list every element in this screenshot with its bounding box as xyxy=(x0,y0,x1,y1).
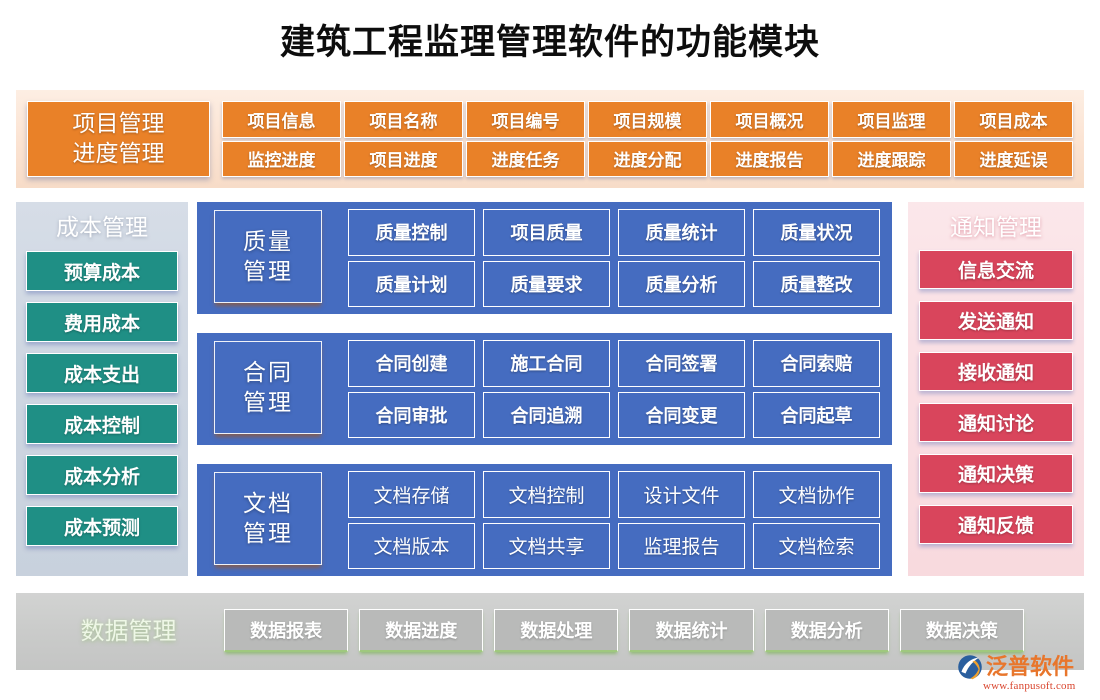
project-cell[interactable]: 项目规模 xyxy=(588,101,707,138)
contract-management-panel: 合同 管理 合同创建 施工合同 合同签署 合同索赔 合同审批 合同追溯 合同变更… xyxy=(197,333,892,445)
page-title: 建筑工程监理管理软件的功能模块 xyxy=(0,14,1100,65)
document-grid: 文档存储 文档控制 设计文件 文档协作 文档版本 文档共享 监理报告 文档检索 xyxy=(348,471,880,569)
quality-cell[interactable]: 项目质量 xyxy=(483,209,610,256)
quality-cell[interactable]: 质量整改 xyxy=(753,261,880,308)
cost-item-control[interactable]: 成本控制 xyxy=(26,404,178,444)
quality-management-label: 质量 管理 xyxy=(214,210,322,303)
notify-item-send[interactable]: 发送通知 xyxy=(919,301,1073,340)
schedule-cell[interactable]: 监控进度 xyxy=(222,141,341,178)
contract-grid: 合同创建 施工合同 合同签署 合同索赔 合同审批 合同追溯 合同变更 合同起草 xyxy=(348,340,880,438)
quality-cell[interactable]: 质量统计 xyxy=(618,209,745,256)
document-management-panel: 文档 管理 文档存储 文档控制 设计文件 文档协作 文档版本 文档共享 监理报告… xyxy=(197,464,892,576)
notify-item-decision[interactable]: 通知决策 xyxy=(919,454,1073,493)
label-line: 管理 xyxy=(243,388,293,417)
project-schedule-label: 项目管理 进度管理 xyxy=(27,101,210,177)
project-cell[interactable]: 项目监理 xyxy=(832,101,951,138)
document-cell[interactable]: 文档版本 xyxy=(348,523,475,570)
data-item-progress[interactable]: 数据进度 xyxy=(359,609,483,652)
notify-item-receive[interactable]: 接收通知 xyxy=(919,352,1073,391)
quality-cell[interactable]: 质量控制 xyxy=(348,209,475,256)
data-management-section: 数据管理 数据报表 数据进度 数据处理 数据统计 数据分析 数据决策 xyxy=(16,593,1084,670)
quality-cell[interactable]: 质量要求 xyxy=(483,261,610,308)
document-cell[interactable]: 文档协作 xyxy=(753,471,880,518)
contract-cell[interactable]: 合同起草 xyxy=(753,392,880,439)
data-item-analysis[interactable]: 数据分析 xyxy=(765,609,889,652)
label-line: 管理 xyxy=(243,519,293,548)
document-cell[interactable]: 文档控制 xyxy=(483,471,610,518)
data-management-grid: 数据报表 数据进度 数据处理 数据统计 数据分析 数据决策 xyxy=(224,609,1024,652)
cost-management-heading: 成本管理 xyxy=(26,212,178,244)
document-cell[interactable]: 文档检索 xyxy=(753,523,880,570)
quality-management-panel: 质量 管理 质量控制 项目质量 质量统计 质量状况 质量计划 质量要求 质量分析… xyxy=(197,202,892,314)
schedule-management-label: 进度管理 xyxy=(73,139,165,169)
logo-website-url: www.fanpusoft.com xyxy=(983,680,1076,692)
project-schedule-grid: 项目信息 项目名称 项目编号 项目规模 项目概况 项目监理 项目成本 监控进度 … xyxy=(222,101,1073,177)
notify-item-discuss[interactable]: 通知讨论 xyxy=(919,403,1073,442)
project-cell[interactable]: 项目概况 xyxy=(710,101,829,138)
data-management-heading: 数据管理 xyxy=(51,616,206,648)
project-schedule-section: 项目管理 进度管理 项目信息 项目名称 项目编号 项目规模 项目概况 项目监理 … xyxy=(16,90,1084,188)
project-management-label: 项目管理 xyxy=(73,109,165,139)
data-item-statistics[interactable]: 数据统计 xyxy=(629,609,753,652)
schedule-cell[interactable]: 进度报告 xyxy=(710,141,829,178)
logo-top-row: 泛普软件 xyxy=(957,654,1074,680)
schedule-cell[interactable]: 项目进度 xyxy=(344,141,463,178)
notification-management-section: 通知管理 信息交流 发送通知 接收通知 通知讨论 通知决策 通知反馈 xyxy=(908,202,1084,576)
fanpu-swoosh-icon xyxy=(957,654,983,680)
data-item-report[interactable]: 数据报表 xyxy=(224,609,348,652)
contract-cell[interactable]: 合同追溯 xyxy=(483,392,610,439)
contract-cell[interactable]: 施工合同 xyxy=(483,340,610,387)
cost-item-expenditure[interactable]: 成本支出 xyxy=(26,353,178,393)
project-cell[interactable]: 项目成本 xyxy=(954,101,1073,138)
logo-company-name: 泛普软件 xyxy=(986,655,1074,679)
cost-item-budget[interactable]: 预算成本 xyxy=(26,251,178,291)
data-item-decision[interactable]: 数据决策 xyxy=(900,609,1024,652)
label-line: 文档 xyxy=(243,489,293,518)
label-line: 合同 xyxy=(243,358,293,387)
cost-item-expense[interactable]: 费用成本 xyxy=(26,302,178,342)
quality-cell[interactable]: 质量计划 xyxy=(348,261,475,308)
notification-management-heading: 通知管理 xyxy=(919,212,1073,244)
fanpu-logo: 泛普软件 www.fanpusoft.com xyxy=(957,654,1089,696)
cost-item-forecast[interactable]: 成本预测 xyxy=(26,506,178,546)
document-management-label: 文档 管理 xyxy=(214,472,322,565)
schedule-cell[interactable]: 进度分配 xyxy=(588,141,707,178)
label-line: 管理 xyxy=(243,257,293,286)
project-cell[interactable]: 项目编号 xyxy=(466,101,585,138)
cost-item-analysis[interactable]: 成本分析 xyxy=(26,455,178,495)
contract-cell[interactable]: 合同创建 xyxy=(348,340,475,387)
document-cell[interactable]: 设计文件 xyxy=(618,471,745,518)
quality-cell[interactable]: 质量分析 xyxy=(618,261,745,308)
notify-item-feedback[interactable]: 通知反馈 xyxy=(919,505,1073,544)
schedule-cell[interactable]: 进度延误 xyxy=(954,141,1073,178)
contract-cell[interactable]: 合同审批 xyxy=(348,392,475,439)
schedule-cell[interactable]: 进度任务 xyxy=(466,141,585,178)
notify-item-message-exchange[interactable]: 信息交流 xyxy=(919,250,1073,289)
quality-cell[interactable]: 质量状况 xyxy=(753,209,880,256)
document-cell[interactable]: 文档存储 xyxy=(348,471,475,518)
label-line: 质量 xyxy=(243,227,293,256)
contract-management-label: 合同 管理 xyxy=(214,341,322,434)
data-item-processing[interactable]: 数据处理 xyxy=(494,609,618,652)
project-cell[interactable]: 项目信息 xyxy=(222,101,341,138)
project-cell[interactable]: 项目名称 xyxy=(344,101,463,138)
document-cell[interactable]: 监理报告 xyxy=(618,523,745,570)
cost-management-section: 成本管理 预算成本 费用成本 成本支出 成本控制 成本分析 成本预测 xyxy=(16,202,188,576)
quality-grid: 质量控制 项目质量 质量统计 质量状况 质量计划 质量要求 质量分析 质量整改 xyxy=(348,209,880,307)
contract-cell[interactable]: 合同签署 xyxy=(618,340,745,387)
schedule-cell[interactable]: 进度跟踪 xyxy=(832,141,951,178)
contract-cell[interactable]: 合同索赔 xyxy=(753,340,880,387)
document-cell[interactable]: 文档共享 xyxy=(483,523,610,570)
contract-cell[interactable]: 合同变更 xyxy=(618,392,745,439)
